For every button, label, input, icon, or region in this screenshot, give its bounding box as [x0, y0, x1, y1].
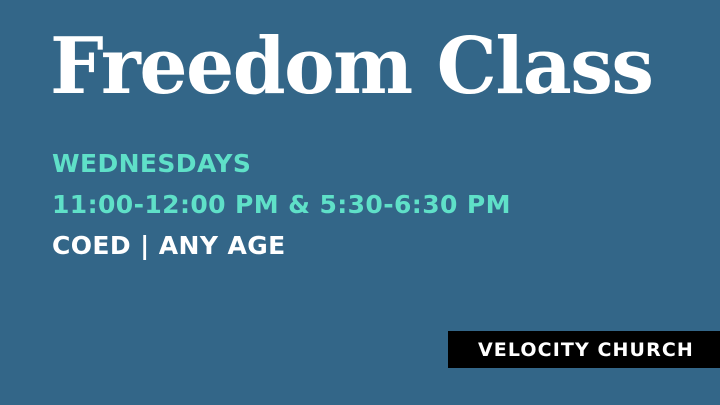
organization-badge: VELOCITY CHURCH	[448, 331, 720, 368]
detail-line-day: WEDNESDAYS	[52, 143, 511, 184]
page-title: Freedom Class	[50, 28, 653, 106]
organization-name: VELOCITY CHURCH	[478, 339, 694, 361]
detail-line-audience: COED | ANY AGE	[52, 225, 511, 266]
flyer-canvas: Freedom Class WEDNESDAYS 11:00-12:00 PM …	[0, 0, 720, 405]
detail-line-time: 11:00-12:00 PM & 5:30-6:30 PM	[52, 184, 511, 225]
event-details: WEDNESDAYS 11:00-12:00 PM & 5:30-6:30 PM…	[52, 143, 511, 266]
